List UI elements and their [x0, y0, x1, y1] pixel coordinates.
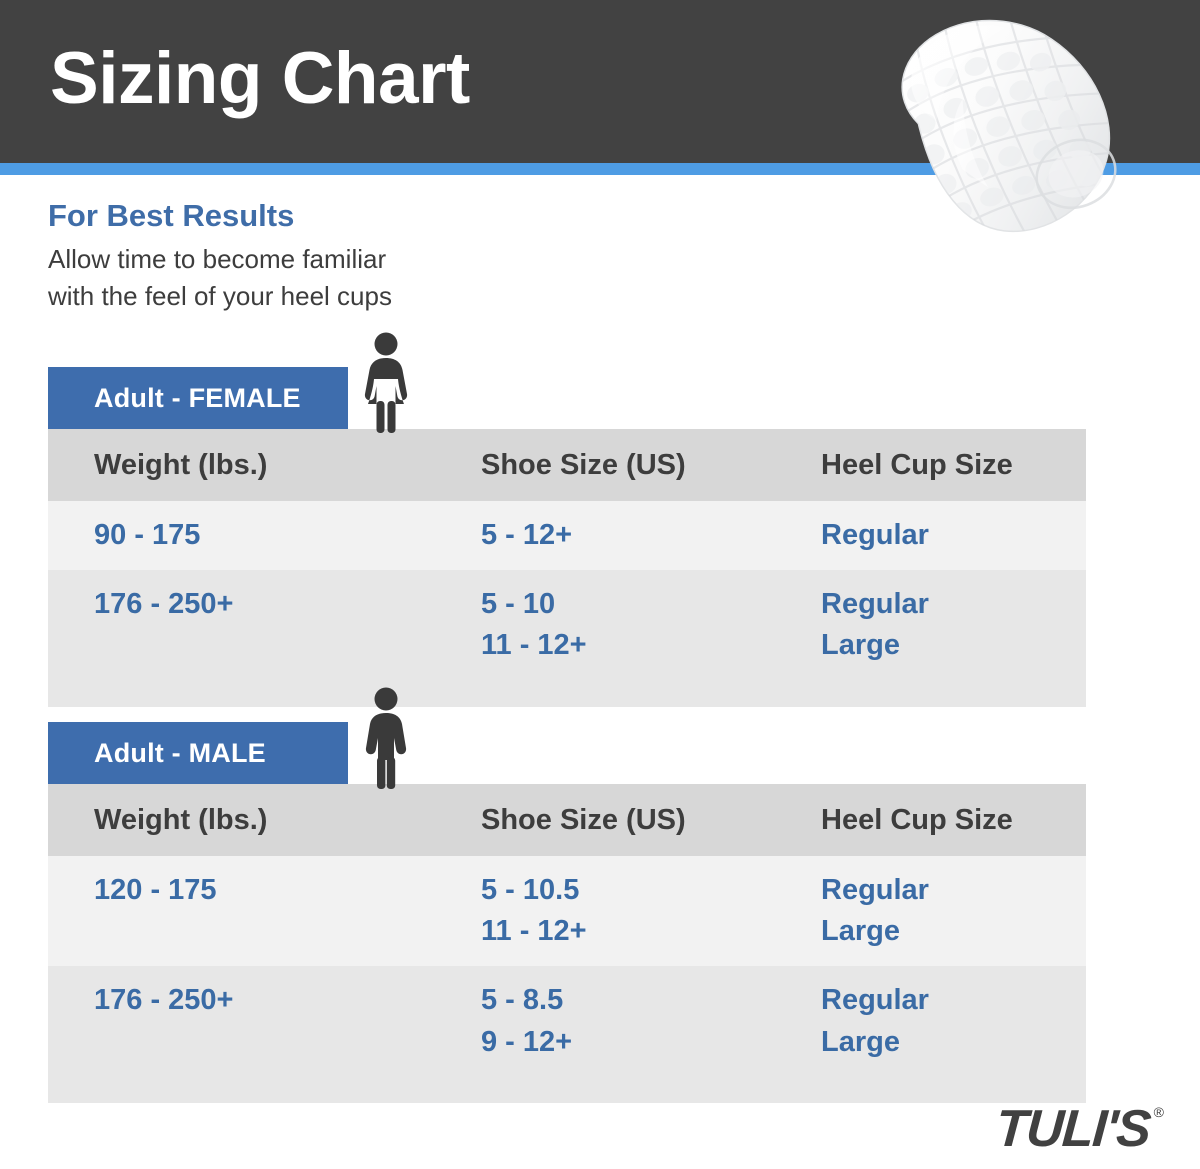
cell-heel-cup-size: Regular Large: [775, 870, 1086, 952]
cell-heel-cup-size-line: Regular: [821, 980, 1086, 1021]
table-row: 90 - 175 5 - 12+ Regular: [48, 501, 1086, 570]
cell-heel-cup-size-line: Regular: [821, 584, 1086, 625]
table-header-row: Weight (lbs.) Shoe Size (US) Heel Cup Si…: [48, 784, 1086, 856]
table-row: 176 - 250+ 5 - 8.5 9 - 12+ Regular Large: [48, 966, 1086, 1102]
cell-shoe-size-line: 11 - 12+: [481, 911, 775, 952]
cell-shoe-size: 5 - 10.5 11 - 12+: [435, 870, 775, 952]
cell-weight: 176 - 250+: [48, 584, 435, 666]
cell-shoe-size-line: 5 - 12+: [481, 515, 775, 556]
intro-block: For Best Results Allow time to become fa…: [48, 198, 608, 316]
tulis-wordmark: TULI'S: [994, 1103, 1151, 1155]
cell-shoe-size: 5 - 12+: [435, 515, 775, 556]
table-header-row: Weight (lbs.) Shoe Size (US) Heel Cup Si…: [48, 429, 1086, 501]
cell-shoe-size: 5 - 8.5 9 - 12+: [435, 980, 775, 1062]
column-header-shoe-size: Shoe Size (US): [435, 784, 775, 856]
cell-heel-cup-size-line: Large: [821, 911, 1086, 952]
cell-shoe-size-line: 5 - 10: [481, 584, 775, 625]
section-banner-label: Adult - FEMALE: [94, 383, 301, 414]
sizing-chart-page: Sizing Chart: [0, 0, 1200, 1169]
cell-shoe-size: 5 - 10 11 - 12+: [435, 584, 775, 666]
cell-weight: 176 - 250+: [48, 980, 435, 1062]
cell-shoe-size-line: 5 - 8.5: [481, 980, 775, 1021]
column-header-heel-cup-size: Heel Cup Size: [775, 784, 1086, 856]
intro-heading: For Best Results: [48, 198, 608, 235]
cell-weight: 90 - 175: [48, 515, 435, 556]
cell-heel-cup-size-line: Large: [821, 1022, 1086, 1063]
section-banner-label: Adult - MALE: [94, 738, 266, 769]
cell-heel-cup-size: Regular: [775, 515, 1086, 556]
registered-trademark-icon: ®: [1154, 1105, 1164, 1119]
sizing-section-female: Adult - FEMALE Weight (lbs.) Shoe Size (…: [48, 367, 1086, 707]
gel-heel-cup-product-photo: [845, 2, 1145, 252]
cell-heel-cup-size-line: Regular: [821, 515, 1086, 556]
sizing-table-female: Weight (lbs.) Shoe Size (US) Heel Cup Si…: [48, 429, 1086, 707]
column-header-shoe-size: Shoe Size (US): [435, 429, 775, 501]
male-pictogram-icon: [356, 686, 416, 790]
column-header-weight: Weight (lbs.): [48, 784, 435, 856]
table-row: 176 - 250+ 5 - 10 11 - 12+ Regular Large: [48, 570, 1086, 706]
tulis-brand-logo: TULI'S ®: [996, 1103, 1164, 1155]
sizing-table-male: Weight (lbs.) Shoe Size (US) Heel Cup Si…: [48, 784, 1086, 1103]
page-title: Sizing Chart: [50, 42, 470, 115]
cell-heel-cup-size-line: Regular: [821, 870, 1086, 911]
cell-shoe-size-line: 9 - 12+: [481, 1022, 775, 1063]
intro-line-1: Allow time to become familiar: [48, 241, 608, 279]
section-banner-male: Adult - MALE: [48, 722, 348, 784]
column-header-heel-cup-size: Heel Cup Size: [775, 429, 1086, 501]
cell-heel-cup-size: Regular Large: [775, 584, 1086, 666]
table-row: 120 - 175 5 - 10.5 11 - 12+ Regular Larg…: [48, 856, 1086, 966]
cell-shoe-size-line: 11 - 12+: [481, 625, 775, 666]
cell-heel-cup-size: Regular Large: [775, 980, 1086, 1062]
cell-heel-cup-size-line: Large: [821, 625, 1086, 666]
cell-weight: 120 - 175: [48, 870, 435, 952]
intro-line-2: with the feel of your heel cups: [48, 278, 608, 316]
column-header-weight: Weight (lbs.): [48, 429, 435, 501]
section-banner-female: Adult - FEMALE: [48, 367, 348, 429]
cell-shoe-size-line: 5 - 10.5: [481, 870, 775, 911]
sizing-section-male: Adult - MALE Weight (lbs.) Shoe Size (US…: [48, 722, 1086, 1103]
female-pictogram-icon: [356, 331, 416, 435]
